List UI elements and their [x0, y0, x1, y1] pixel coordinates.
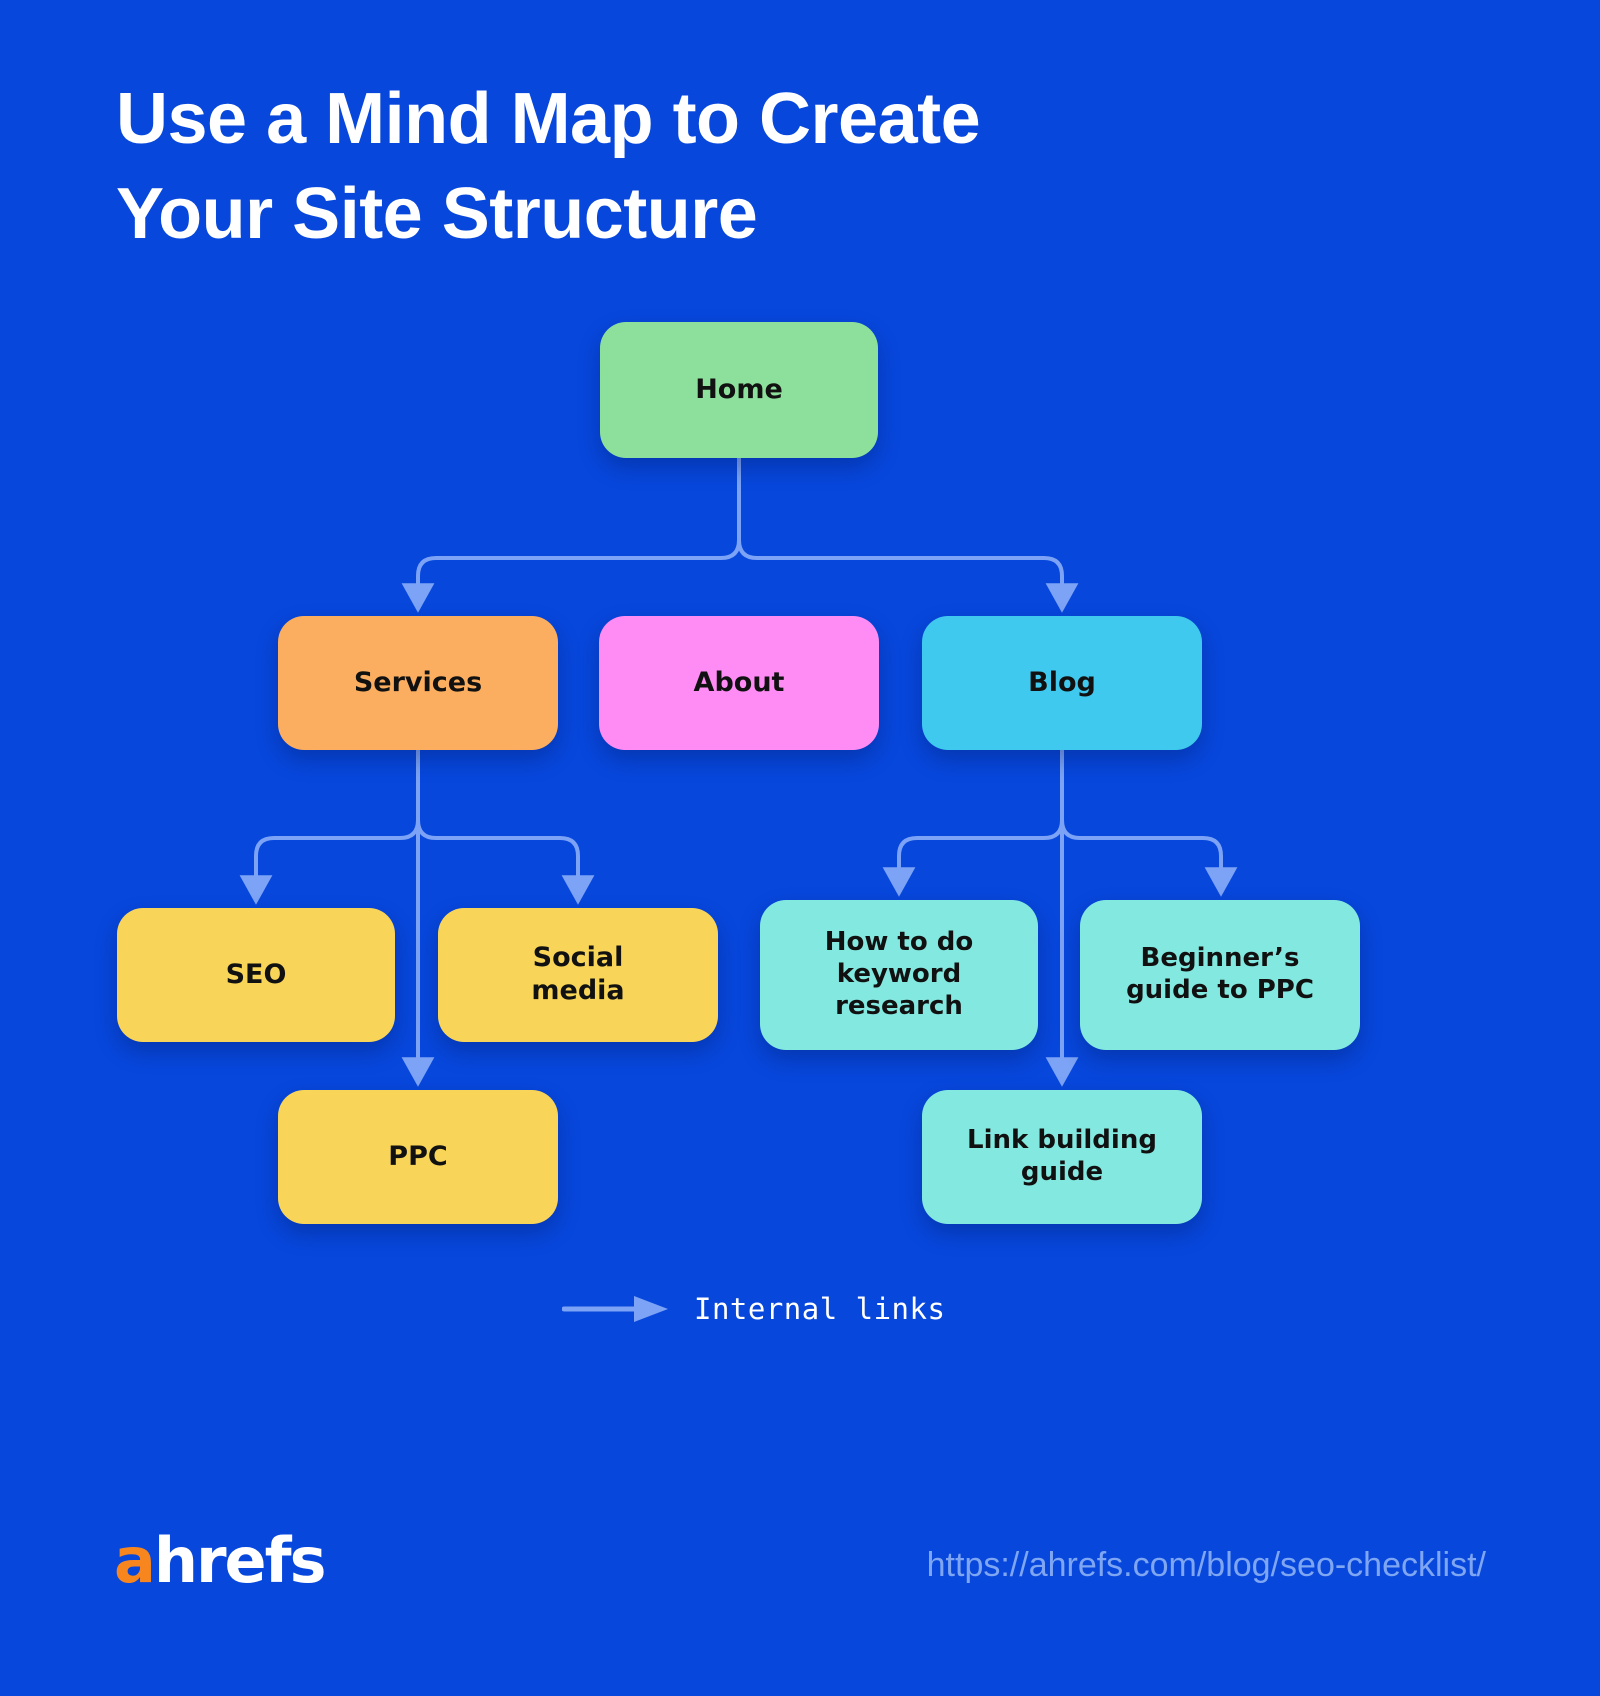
node-link-building-guide[interactable]: Link building guide: [922, 1090, 1202, 1224]
node-ppc[interactable]: PPC: [278, 1090, 558, 1224]
edge-home-blog: [739, 458, 1062, 592]
node-services[interactable]: Services: [278, 616, 558, 750]
node-beginners-guide-ppc-label: Beginner’s guide to PPC: [1126, 943, 1314, 1006]
page-title: Use a Mind Map to Create Your Site Struc…: [116, 72, 1216, 262]
node-seo-label: SEO: [226, 959, 287, 992]
node-ppc-label: PPC: [388, 1141, 447, 1174]
node-blog[interactable]: Blog: [922, 616, 1202, 750]
node-blog-label: Blog: [1028, 667, 1096, 700]
node-keyword-research[interactable]: How to do keyword research: [760, 900, 1038, 1050]
edge-blog-keyword: [899, 750, 1062, 876]
logo-accent-letter: a: [114, 1524, 154, 1597]
edge-services-social: [418, 750, 578, 884]
logo-wordmark: hrefs: [154, 1524, 325, 1597]
node-social-media[interactable]: Social media: [438, 908, 718, 1042]
edge-home-services: [418, 458, 739, 592]
node-social-media-label: Social media: [531, 942, 624, 1008]
legend: Internal links: [562, 1292, 945, 1326]
node-beginners-guide-ppc[interactable]: Beginner’s guide to PPC: [1080, 900, 1360, 1050]
node-home-label: Home: [695, 374, 783, 407]
node-about[interactable]: About: [599, 616, 879, 750]
infographic-root: Use a Mind Map to Create Your Site Struc…: [0, 0, 1600, 1696]
node-about-label: About: [694, 667, 785, 700]
node-services-label: Services: [354, 667, 482, 700]
legend-label: Internal links: [694, 1292, 945, 1326]
node-home[interactable]: Home: [600, 322, 878, 458]
edge-services-seo: [256, 750, 418, 884]
node-seo[interactable]: SEO: [117, 908, 395, 1042]
footer-url[interactable]: https://ahrefs.com/blog/seo-checklist/: [927, 1546, 1486, 1585]
node-keyword-research-label: How to do keyword research: [825, 927, 974, 1022]
node-link-building-guide-label: Link building guide: [967, 1125, 1157, 1188]
arrow-right-icon: [562, 1293, 672, 1325]
edge-blog-beginner: [1062, 750, 1221, 876]
ahrefs-logo[interactable]: ahrefs: [114, 1530, 325, 1592]
